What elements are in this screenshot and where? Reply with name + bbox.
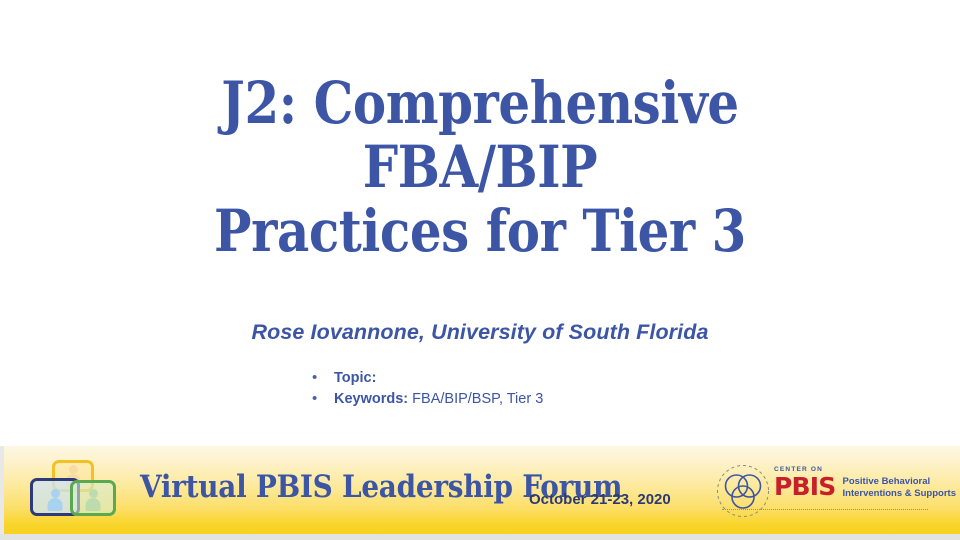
person-silhouette-icon xyxy=(48,498,63,511)
bullet-value-keywords: FBA/BIP/BSP, Tier 3 xyxy=(412,391,543,407)
pbis-logo: CENTER ON PBIS Positive Behavioral Inter… xyxy=(716,462,934,520)
footer-left-edge xyxy=(0,446,4,534)
bullet-label-topic: Topic: xyxy=(334,370,376,386)
video-conference-icon xyxy=(30,460,110,516)
presenter-affiliation: Rose Iovannone, University of South Flor… xyxy=(80,320,880,345)
forum-date: October 21-23, 2020 xyxy=(529,491,671,508)
person-silhouette-icon xyxy=(86,498,101,511)
pbis-dotted-rule xyxy=(722,509,928,510)
bullet-label-keywords: Keywords: xyxy=(334,391,408,407)
list-item: Topic: xyxy=(310,368,830,389)
pbis-acronym: PBIS xyxy=(774,474,836,500)
pbis-tagline-line2: Interventions & Supports xyxy=(843,488,956,500)
pbis-acronym-row: PBIS Positive Behavioral Interventions &… xyxy=(774,474,934,500)
pbis-tagline: Positive Behavioral Interventions & Supp… xyxy=(843,474,956,499)
slide: J2: Comprehensive FBA/BIP Practices for … xyxy=(0,0,960,540)
page-title: J2: Comprehensive FBA/BIP Practices for … xyxy=(119,72,841,263)
slide-bottom-edge xyxy=(0,534,960,540)
conference-screen-right-icon xyxy=(70,480,116,516)
title-block: J2: Comprehensive FBA/BIP Practices for … xyxy=(60,72,900,263)
pbis-tagline-line1: Positive Behavioral xyxy=(843,476,956,488)
metadata-bullet-list: Topic: Keywords: FBA/BIP/BSP, Tier 3 xyxy=(310,368,830,410)
list-item: Keywords: FBA/BIP/BSP, Tier 3 xyxy=(310,389,830,410)
